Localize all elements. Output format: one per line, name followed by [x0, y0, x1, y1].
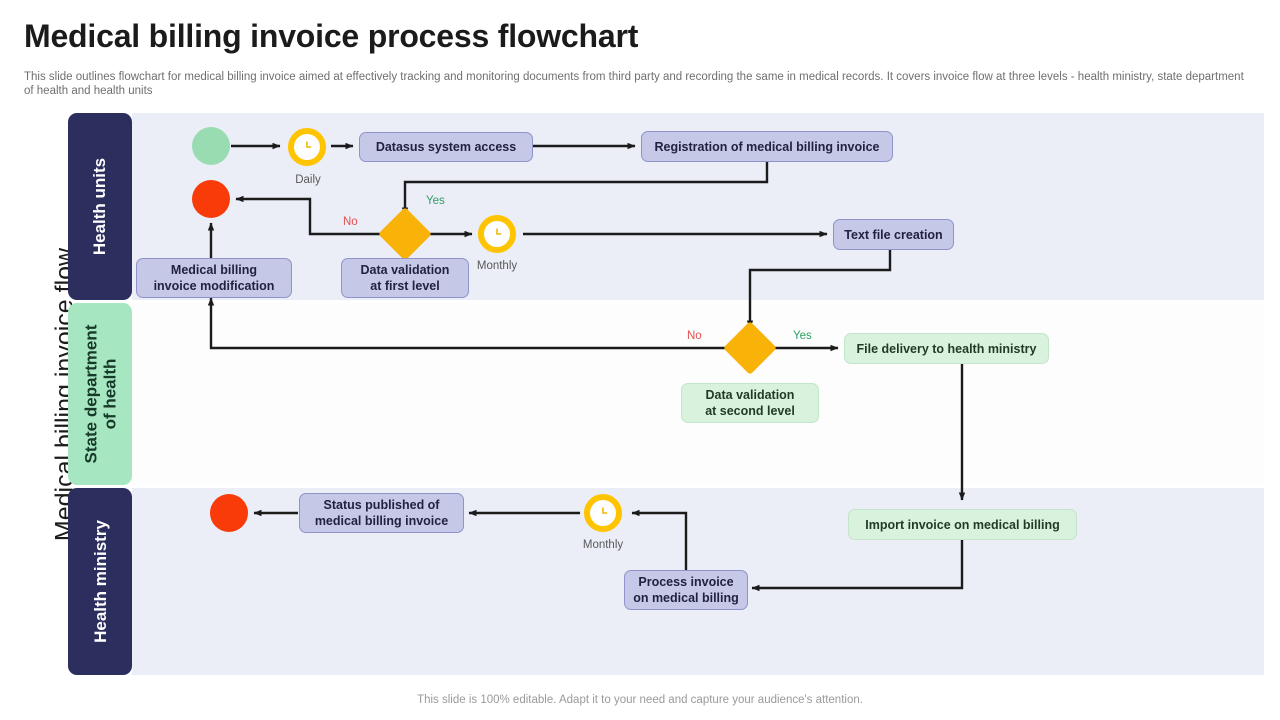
- swimlane-header-health-units: Health units: [68, 113, 132, 300]
- slide-footer: This slide is 100% editable. Adapt it to…: [0, 694, 1280, 706]
- page-title: Medical billing invoice process flowchar…: [24, 18, 638, 55]
- end-circle-top[interactable]: [192, 180, 230, 218]
- process-label: Status published ofmedical billing invoi…: [315, 497, 448, 529]
- process-label: Registration of medical billing invoice: [654, 139, 879, 155]
- process-medical-billing-invoice-modification[interactable]: Medical billinginvoice modification: [136, 258, 292, 298]
- swimlane-label-health-units: Health units: [91, 158, 110, 255]
- clock-face-icon: [298, 138, 316, 156]
- process-registration-of-medical-billing-invoice[interactable]: Registration of medical billing invoice: [641, 131, 893, 162]
- process-status-published-of-medical-billing-invoice[interactable]: Status published ofmedical billing invoi…: [299, 493, 464, 533]
- start-circle[interactable]: [192, 127, 230, 165]
- process-file-delivery-to-health-ministry[interactable]: File delivery to health ministry: [844, 333, 1049, 364]
- timer-caption-daily: Daily: [258, 174, 358, 186]
- process-label: Medical billinginvoice modification: [154, 262, 275, 294]
- process-label: File delivery to health ministry: [857, 341, 1037, 357]
- edge-label-yes-first: Yes: [426, 195, 445, 207]
- swimlane-state-department: State departmentof health: [68, 303, 1264, 485]
- edge-label-no-second: No: [687, 330, 702, 342]
- process-label: Text file creation: [844, 227, 942, 243]
- timer-clock-monthly-top-icon[interactable]: [478, 215, 516, 253]
- timer-clock-monthly-bottom-icon[interactable]: [584, 494, 622, 532]
- page-subtitle: This slide outlines flowchart for medica…: [24, 70, 1246, 98]
- end-circle-bottom[interactable]: [210, 494, 248, 532]
- process-process-invoice-on-medical-billing[interactable]: Process invoiceon medical billing: [624, 570, 748, 610]
- process-label: Data validationat first level: [361, 262, 450, 294]
- swimlane-header-state-department: State departmentof health: [68, 303, 132, 485]
- clock-face-icon: [594, 504, 612, 522]
- process-label: Process invoiceon medical billing: [633, 574, 739, 606]
- process-label: Import invoice on medical billing: [865, 517, 1059, 533]
- process-text-file-creation[interactable]: Text file creation: [833, 219, 954, 250]
- timer-caption-monthly-bottom: Monthly: [553, 539, 653, 551]
- swimlane-label-state-department: State departmentof health: [81, 325, 119, 464]
- process-datasus-system-access[interactable]: Datasus system access: [359, 132, 533, 162]
- slide-canvas: Medical billing invoice process flowchar…: [0, 0, 1280, 720]
- process-label: Datasus system access: [376, 139, 516, 155]
- swimlane-header-health-ministry: Health ministry: [68, 488, 132, 675]
- edge-label-yes-second: Yes: [793, 330, 812, 342]
- process-label: Data validationat second level: [705, 387, 795, 419]
- note-data-validation-second-level[interactable]: Data validationat second level: [681, 383, 819, 423]
- clock-face-icon: [488, 225, 506, 243]
- process-import-invoice-on-medical-billing[interactable]: Import invoice on medical billing: [848, 509, 1077, 540]
- swimlane-label-health-ministry: Health ministry: [91, 520, 110, 643]
- timer-caption-monthly-top: Monthly: [447, 260, 547, 272]
- timer-clock-daily-icon[interactable]: [288, 128, 326, 166]
- edge-label-no-first: No: [343, 216, 358, 228]
